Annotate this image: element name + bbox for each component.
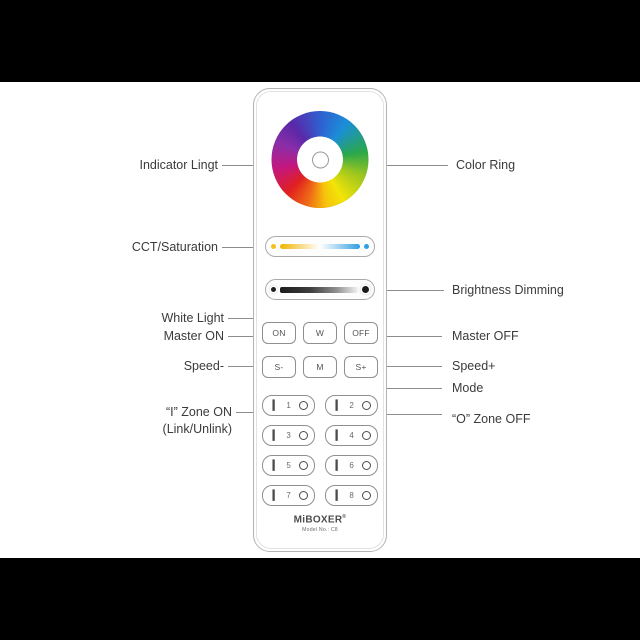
zone-off-icon[interactable] bbox=[299, 461, 308, 470]
zone-off-icon[interactable] bbox=[362, 461, 371, 470]
speed-mode-key-row: S- M S+ bbox=[262, 356, 378, 378]
leader-master-off bbox=[386, 336, 442, 337]
zone-button-grid: ❙ 1 ❙ 2 ❙ 3 ❙ 4 ❙ 5 bbox=[262, 395, 378, 506]
cct-slider-track[interactable] bbox=[280, 244, 360, 249]
cct-cool-dot-icon bbox=[364, 244, 369, 249]
callout-zone-on: “I” Zone ON (Link/Unlink) bbox=[50, 404, 232, 438]
zone-button[interactable]: ❙ 4 bbox=[325, 425, 378, 446]
zone-off-icon[interactable] bbox=[362, 491, 371, 500]
callout-speed-down: Speed- bbox=[60, 358, 224, 375]
zone-off-icon[interactable] bbox=[362, 401, 371, 410]
white-light-button[interactable]: W bbox=[303, 322, 337, 344]
callout-master-on: Master ON bbox=[60, 328, 224, 345]
zone-button[interactable]: ❙ 1 bbox=[262, 395, 315, 416]
zone-on-icon[interactable]: ❙ bbox=[269, 430, 278, 441]
master-key-row: ON W OFF bbox=[262, 322, 378, 344]
zone-number: 8 bbox=[349, 491, 353, 500]
letterbox-bar-bottom bbox=[0, 558, 640, 640]
zone-on-icon[interactable]: ❙ bbox=[332, 400, 341, 411]
zone-button[interactable]: ❙ 8 bbox=[325, 485, 378, 506]
zone-number: 6 bbox=[349, 461, 353, 470]
callout-white-light: White Light bbox=[60, 310, 224, 327]
brightness-max-dot-icon bbox=[362, 286, 369, 293]
callout-indicator-light: Indicator Lingt bbox=[60, 157, 218, 174]
cct-warm-dot-icon bbox=[271, 244, 276, 249]
callout-color-ring: Color Ring bbox=[456, 157, 515, 174]
zone-off-icon[interactable] bbox=[299, 431, 308, 440]
callout-speed-up: Speed+ bbox=[452, 358, 495, 375]
zone-number: 2 bbox=[349, 401, 353, 410]
brand-registered-icon: ® bbox=[342, 514, 346, 520]
mode-button[interactable]: M bbox=[303, 356, 337, 378]
zone-on-icon[interactable]: ❙ bbox=[269, 460, 278, 471]
remote-body: ON W OFF S- M S+ ❙ 1 ❙ 2 ❙ 3 bbox=[253, 88, 387, 552]
callout-zone-on-line2: (Link/Unlink) bbox=[50, 421, 232, 438]
callout-mode: Mode bbox=[452, 380, 483, 397]
brightness-slider-track[interactable] bbox=[280, 287, 358, 293]
zone-button[interactable]: ❙ 7 bbox=[262, 485, 315, 506]
zone-number: 4 bbox=[349, 431, 353, 440]
master-on-button[interactable]: ON bbox=[262, 322, 296, 344]
callout-zone-on-line1: “I” Zone ON bbox=[50, 404, 232, 421]
callout-cct-saturation: CCT/Saturation bbox=[60, 239, 218, 256]
letterbox-bar-top bbox=[0, 0, 640, 82]
zone-off-icon[interactable] bbox=[362, 431, 371, 440]
zone-button[interactable]: ❙ 5 bbox=[262, 455, 315, 476]
zone-button[interactable]: ❙ 3 bbox=[262, 425, 315, 446]
zone-on-icon[interactable]: ❙ bbox=[332, 460, 341, 471]
zone-off-icon[interactable] bbox=[299, 401, 308, 410]
indicator-light bbox=[312, 151, 329, 168]
zone-off-icon[interactable] bbox=[299, 491, 308, 500]
speed-down-button[interactable]: S- bbox=[262, 356, 296, 378]
brand-block: MiBOXER® Model No.: C8 bbox=[254, 514, 386, 533]
zone-button[interactable]: ❙ 6 bbox=[325, 455, 378, 476]
callout-brightness-dimming: Brightness Dimming bbox=[452, 282, 564, 299]
zone-on-icon[interactable]: ❙ bbox=[269, 400, 278, 411]
color-ring[interactable] bbox=[272, 111, 369, 208]
zone-number: 3 bbox=[286, 431, 290, 440]
leader-speed-up bbox=[386, 366, 442, 367]
master-off-button[interactable]: OFF bbox=[344, 322, 378, 344]
diagram-stage: ON W OFF S- M S+ ❙ 1 ❙ 2 ❙ 3 bbox=[0, 0, 640, 640]
brightness-dimming-slider[interactable] bbox=[265, 279, 375, 300]
zone-on-icon[interactable]: ❙ bbox=[269, 490, 278, 501]
cct-saturation-slider[interactable] bbox=[265, 236, 375, 257]
zone-on-icon[interactable]: ❙ bbox=[332, 430, 341, 441]
speed-up-button[interactable]: S+ bbox=[344, 356, 378, 378]
brightness-min-dot-icon bbox=[271, 287, 276, 292]
callout-master-off: Master OFF bbox=[452, 328, 519, 345]
zone-button[interactable]: ❙ 2 bbox=[325, 395, 378, 416]
zone-number: 5 bbox=[286, 461, 290, 470]
brand-name: MiBOXER® bbox=[254, 514, 386, 525]
model-number: Model No.: C8 bbox=[254, 527, 386, 533]
zone-number: 7 bbox=[286, 491, 290, 500]
brand-name-text: MiBOXER bbox=[294, 514, 343, 525]
zone-on-icon[interactable]: ❙ bbox=[332, 490, 341, 501]
zone-number: 1 bbox=[286, 401, 290, 410]
callout-zone-off: “O” Zone OFF bbox=[452, 411, 530, 428]
